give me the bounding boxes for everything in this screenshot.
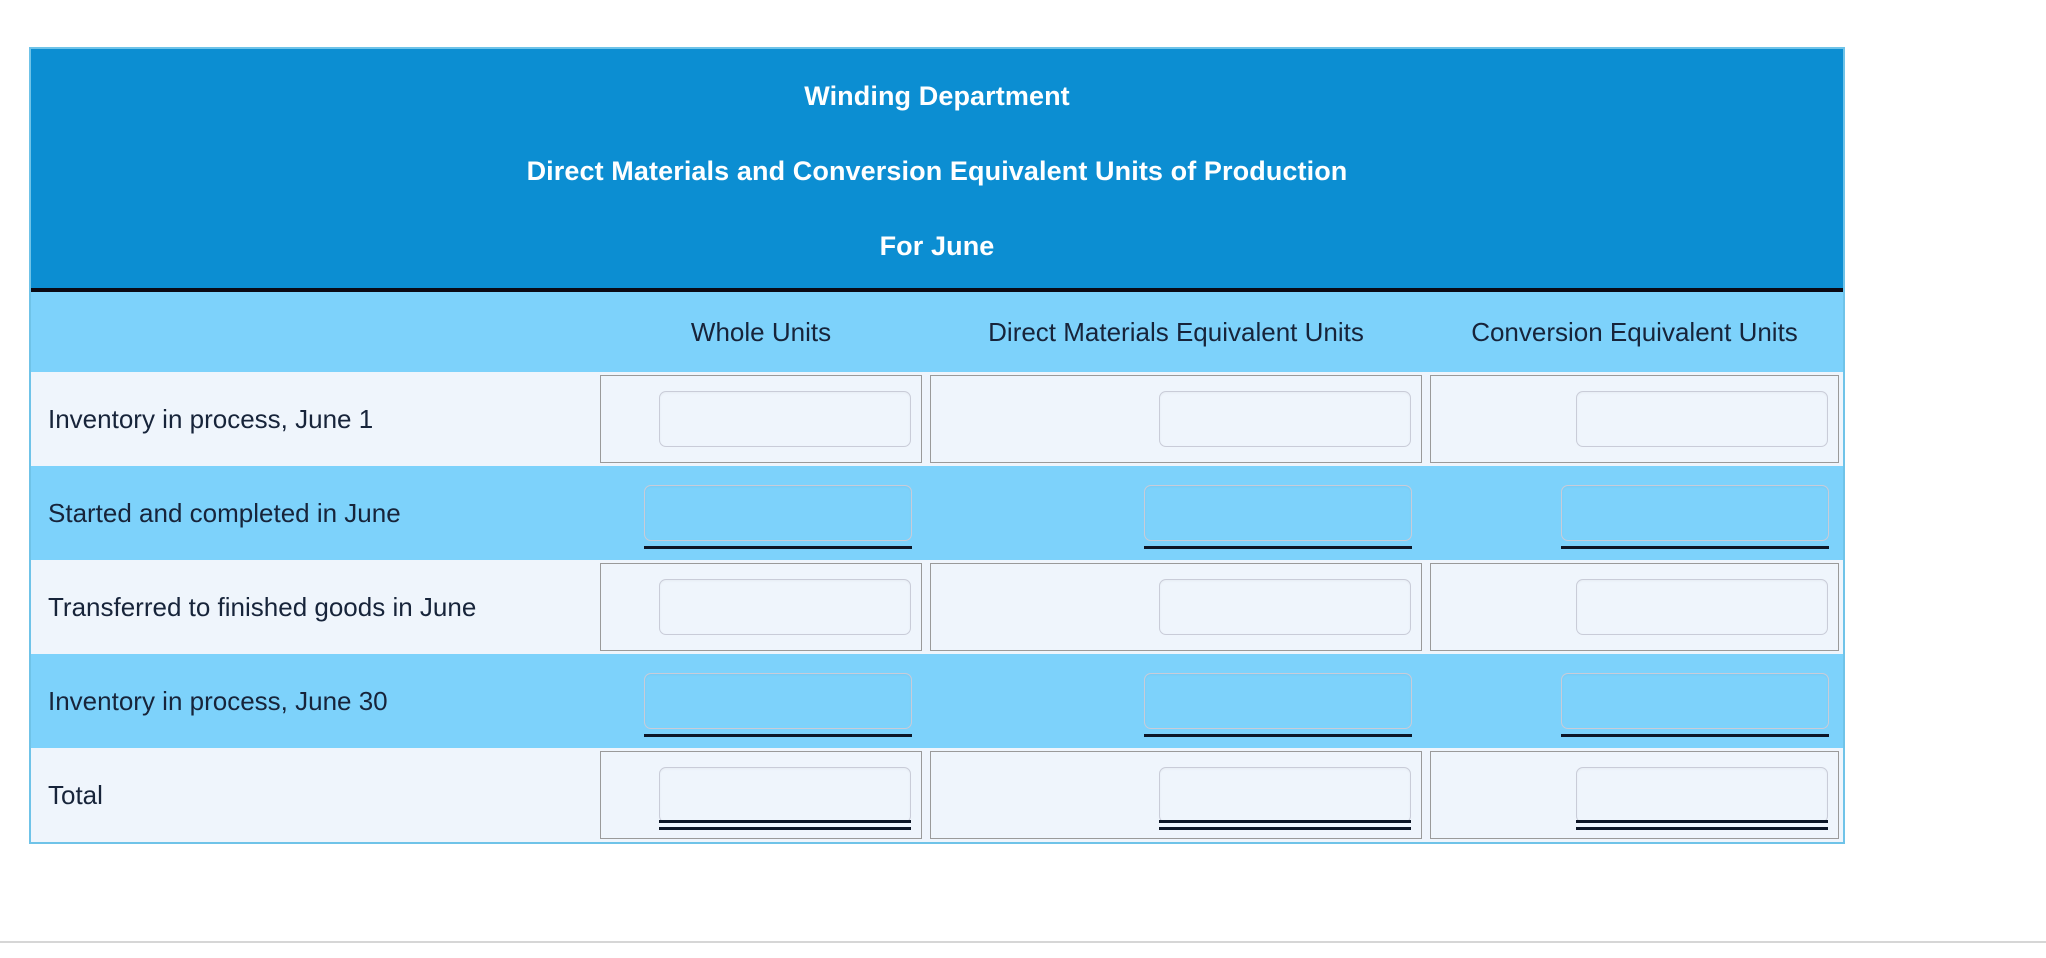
cell-wrapper (600, 375, 922, 463)
input-conversion[interactable] (1576, 391, 1828, 447)
subtotal-underline (644, 734, 912, 737)
cell-conversion (1426, 748, 1843, 842)
cell-wrapper (600, 469, 922, 557)
row-label: Inventory in process, June 1 (31, 372, 596, 466)
cell-wrapper (930, 375, 1422, 463)
input-whole-units[interactable] (659, 579, 911, 635)
cell-direct-materials (926, 748, 1426, 842)
cell-direct-materials (926, 560, 1426, 654)
input-direct-materials[interactable] (1159, 767, 1411, 823)
cell-wrapper (930, 657, 1422, 745)
cell-wrapper (600, 657, 922, 745)
subtotal-underline (1144, 734, 1412, 737)
table-row: Inventory in process, June 1 (31, 372, 1843, 466)
cell-wrapper (1430, 469, 1839, 557)
column-header-direct-materials: Direct Materials Equivalent Units (926, 292, 1426, 372)
cell-wrapper (930, 751, 1422, 839)
cell-conversion (1426, 372, 1843, 466)
column-header-whole-units: Whole Units (596, 292, 926, 372)
input-whole-units[interactable] (659, 391, 911, 447)
row-label: Started and completed in June (31, 466, 596, 560)
cell-whole-units (596, 560, 926, 654)
input-conversion[interactable] (1561, 485, 1829, 541)
table-row: Total (31, 748, 1843, 842)
cell-wrapper (1430, 657, 1839, 745)
cell-wrapper (1430, 751, 1839, 839)
row-label: Transferred to finished goods in June (31, 560, 596, 654)
table-header-row: Whole Units Direct Materials Equivalent … (31, 292, 1843, 372)
report-title-block: Winding Department Direct Materials and … (31, 49, 1843, 292)
column-header-conversion: Conversion Equivalent Units (1426, 292, 1843, 372)
subtotal-underline (1561, 546, 1829, 549)
table-row: Transferred to finished goods in June (31, 560, 1843, 654)
cell-wrapper (600, 751, 922, 839)
table-row: Started and completed in June (31, 466, 1843, 560)
row-label: Inventory in process, June 30 (31, 654, 596, 748)
cell-conversion (1426, 466, 1843, 560)
cell-wrapper (600, 563, 922, 651)
input-whole-units[interactable] (644, 485, 912, 541)
cell-whole-units (596, 748, 926, 842)
row-label: Total (31, 748, 596, 842)
input-direct-materials[interactable] (1159, 579, 1411, 635)
cell-conversion (1426, 560, 1843, 654)
input-conversion[interactable] (1576, 579, 1828, 635)
input-whole-units[interactable] (659, 767, 911, 823)
cell-wrapper (1430, 375, 1839, 463)
column-header-label (31, 292, 596, 372)
cell-wrapper (930, 563, 1422, 651)
input-conversion[interactable] (1576, 767, 1828, 823)
cell-whole-units (596, 654, 926, 748)
cell-direct-materials (926, 466, 1426, 560)
cell-direct-materials (926, 654, 1426, 748)
input-direct-materials[interactable] (1144, 673, 1412, 729)
report-title-period: For June (31, 233, 1843, 260)
equivalent-units-table: Whole Units Direct Materials Equivalent … (31, 292, 1843, 842)
cell-whole-units (596, 372, 926, 466)
input-conversion[interactable] (1561, 673, 1829, 729)
cell-conversion (1426, 654, 1843, 748)
cell-direct-materials (926, 372, 1426, 466)
cell-wrapper (1430, 563, 1839, 651)
cell-wrapper (930, 469, 1422, 557)
worksheet-page: Winding Department Direct Materials and … (0, 0, 2046, 958)
page-divider-rule (0, 941, 2046, 943)
subtotal-underline (1144, 546, 1412, 549)
report-title-department: Winding Department (31, 83, 1843, 110)
report-title-subject: Direct Materials and Conversion Equivale… (31, 158, 1843, 185)
equivalent-units-worksheet: Winding Department Direct Materials and … (29, 47, 1845, 844)
table-body: Inventory in process, June 1Started and … (31, 372, 1843, 842)
input-direct-materials[interactable] (1144, 485, 1412, 541)
table-head: Whole Units Direct Materials Equivalent … (31, 292, 1843, 372)
subtotal-underline (1561, 734, 1829, 737)
subtotal-underline (644, 546, 912, 549)
input-direct-materials[interactable] (1159, 391, 1411, 447)
cell-whole-units (596, 466, 926, 560)
table-row: Inventory in process, June 30 (31, 654, 1843, 748)
input-whole-units[interactable] (644, 673, 912, 729)
